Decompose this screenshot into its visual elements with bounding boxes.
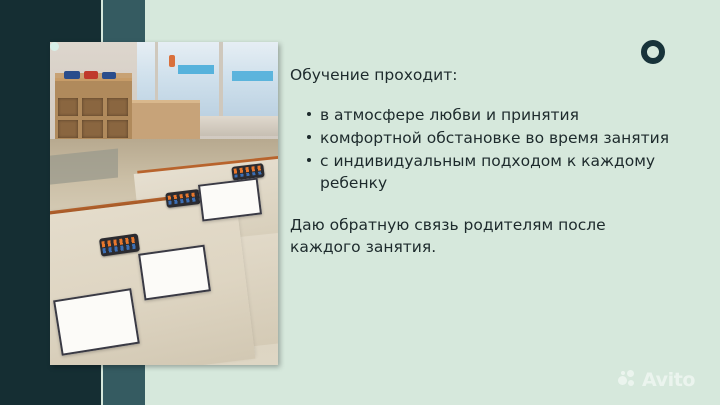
lead-text: Обучение проходит: bbox=[290, 64, 690, 86]
photo-child-1-shirt-logo bbox=[50, 42, 59, 51]
photo-shelf-box-blue bbox=[64, 71, 80, 79]
ring-icon bbox=[641, 40, 665, 64]
classroom-photo-image bbox=[50, 42, 278, 365]
photo-shelf-box-red bbox=[84, 71, 98, 79]
photo-dot-card-3 bbox=[198, 177, 263, 221]
avito-watermark: Avito bbox=[618, 370, 695, 390]
list-item: в атмосфере любви и принятия bbox=[307, 104, 690, 126]
photo-dot-card-2 bbox=[138, 244, 211, 300]
list-item: комфортной обстановке во время занятия bbox=[307, 127, 690, 149]
photo-window-blue-band-right bbox=[232, 71, 273, 81]
bullet-list: в атмосфере любви и принятия комфортной … bbox=[290, 104, 690, 194]
photo-shelf-box-blue2 bbox=[102, 72, 116, 80]
photo-window-blue-band-left bbox=[178, 65, 214, 75]
photo-dot-card-1 bbox=[53, 288, 140, 356]
photo-shelf-unit bbox=[55, 78, 133, 142]
closing-line: каждого занятия. bbox=[290, 236, 690, 258]
closing-text: Даю обратную связь родителям после каждо… bbox=[290, 214, 690, 258]
photo-window-ornament bbox=[169, 55, 175, 67]
list-item: с индивидуальным подходом к каждому ребе… bbox=[307, 150, 690, 194]
classroom-photo bbox=[50, 42, 278, 365]
closing-line: Даю обратную связь родителям после bbox=[290, 214, 690, 236]
avito-wordmark: Avito bbox=[642, 371, 695, 390]
photo-window-mullion-right bbox=[219, 42, 223, 123]
slide-canvas: Обучение проходит: в атмосфере любви и п… bbox=[0, 0, 720, 405]
avito-dots-icon bbox=[618, 370, 638, 390]
slide-text-block: Обучение проходит: в атмосфере любви и п… bbox=[290, 64, 690, 258]
